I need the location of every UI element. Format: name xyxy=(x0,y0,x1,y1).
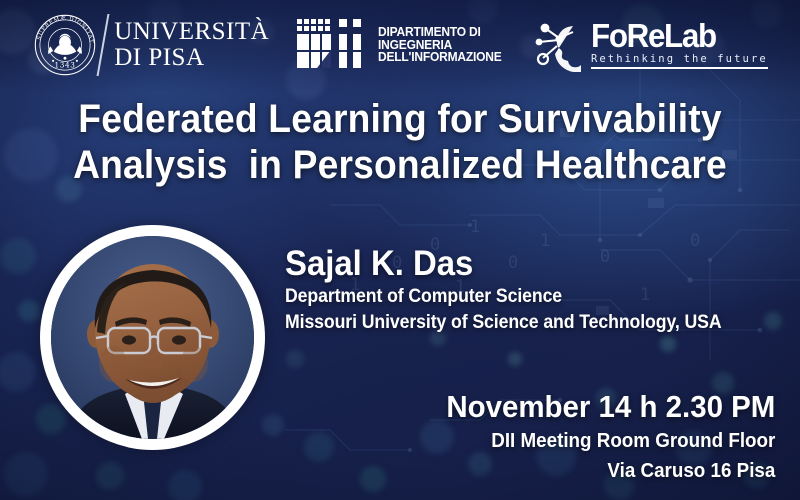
dii-logo: DIPARTIMENTO DI INGEGNERIA DELL'INFORMAZ… xyxy=(295,17,507,73)
forelab-name: FoReLab xyxy=(591,21,759,51)
dii-department-name: DIPARTIMENTO DI INGEGNERIA DELL'INFORMAZ… xyxy=(378,26,502,64)
speaker-name: Sajal K. Das xyxy=(285,246,726,283)
speaker-photo xyxy=(51,236,254,439)
dii-line3: DELL'INFORMAZIONE xyxy=(378,51,502,64)
forelab-logo: FoReLab Rethinking the future xyxy=(533,18,768,72)
forelab-tagline: Rethinking the future xyxy=(591,53,768,69)
university-name: UNIVERSITÀ DI PISA xyxy=(114,19,269,71)
speaker-affiliation-1: Department of Computer Science xyxy=(285,285,722,309)
event-venue-line-2: Via Caruso 16 Pisa xyxy=(449,458,775,484)
dii-pixel-mark-icon xyxy=(295,17,373,73)
title-line-1: Federated Learning for Survivability xyxy=(28,96,772,142)
dii-line1: DIPARTIMENTO DI xyxy=(378,26,502,39)
seminar-poster: 01 01 10 01 10 xyxy=(0,0,800,500)
pisa-seal-icon: IN SUPREMÆ DIGNITATIS 1343 xyxy=(32,12,98,78)
unipi-line2: DI PISA xyxy=(114,44,204,71)
speaker-photo-frame xyxy=(40,225,265,450)
svg-text:1343: 1343 xyxy=(55,60,76,69)
dii-line2: INGEGNERIA xyxy=(378,39,502,52)
forelab-network-head-icon xyxy=(533,18,589,72)
logo-divider xyxy=(97,14,110,76)
logo-bar: IN SUPREMÆ DIGNITATIS 1343 UNIVERSITÀ DI xyxy=(0,6,800,84)
forelab-wordmark: FoReLab Rethinking the future xyxy=(591,21,768,69)
speaker-affiliation-2: Missouri University of Science and Techn… xyxy=(285,311,722,335)
title-line-2: Analysis in Personalized Healthcare xyxy=(28,142,772,188)
speaker-info: Sajal K. Das Department of Computer Scie… xyxy=(285,246,754,335)
event-date-time: November 14 h 2.30 PM xyxy=(446,390,775,424)
event-venue-line-1: DII Meeting Room Ground Floor xyxy=(449,428,775,454)
unipi-line1: UNIVERSITÀ xyxy=(114,18,269,45)
event-info: November 14 h 2.30 PM DII Meeting Room G… xyxy=(429,390,775,484)
speaker-portrait-illustration xyxy=(51,236,254,439)
university-of-pisa-logo: IN SUPREMÆ DIGNITATIS 1343 UNIVERSITÀ DI xyxy=(32,12,269,78)
seminar-title: Federated Learning for Survivability Ana… xyxy=(28,96,772,188)
